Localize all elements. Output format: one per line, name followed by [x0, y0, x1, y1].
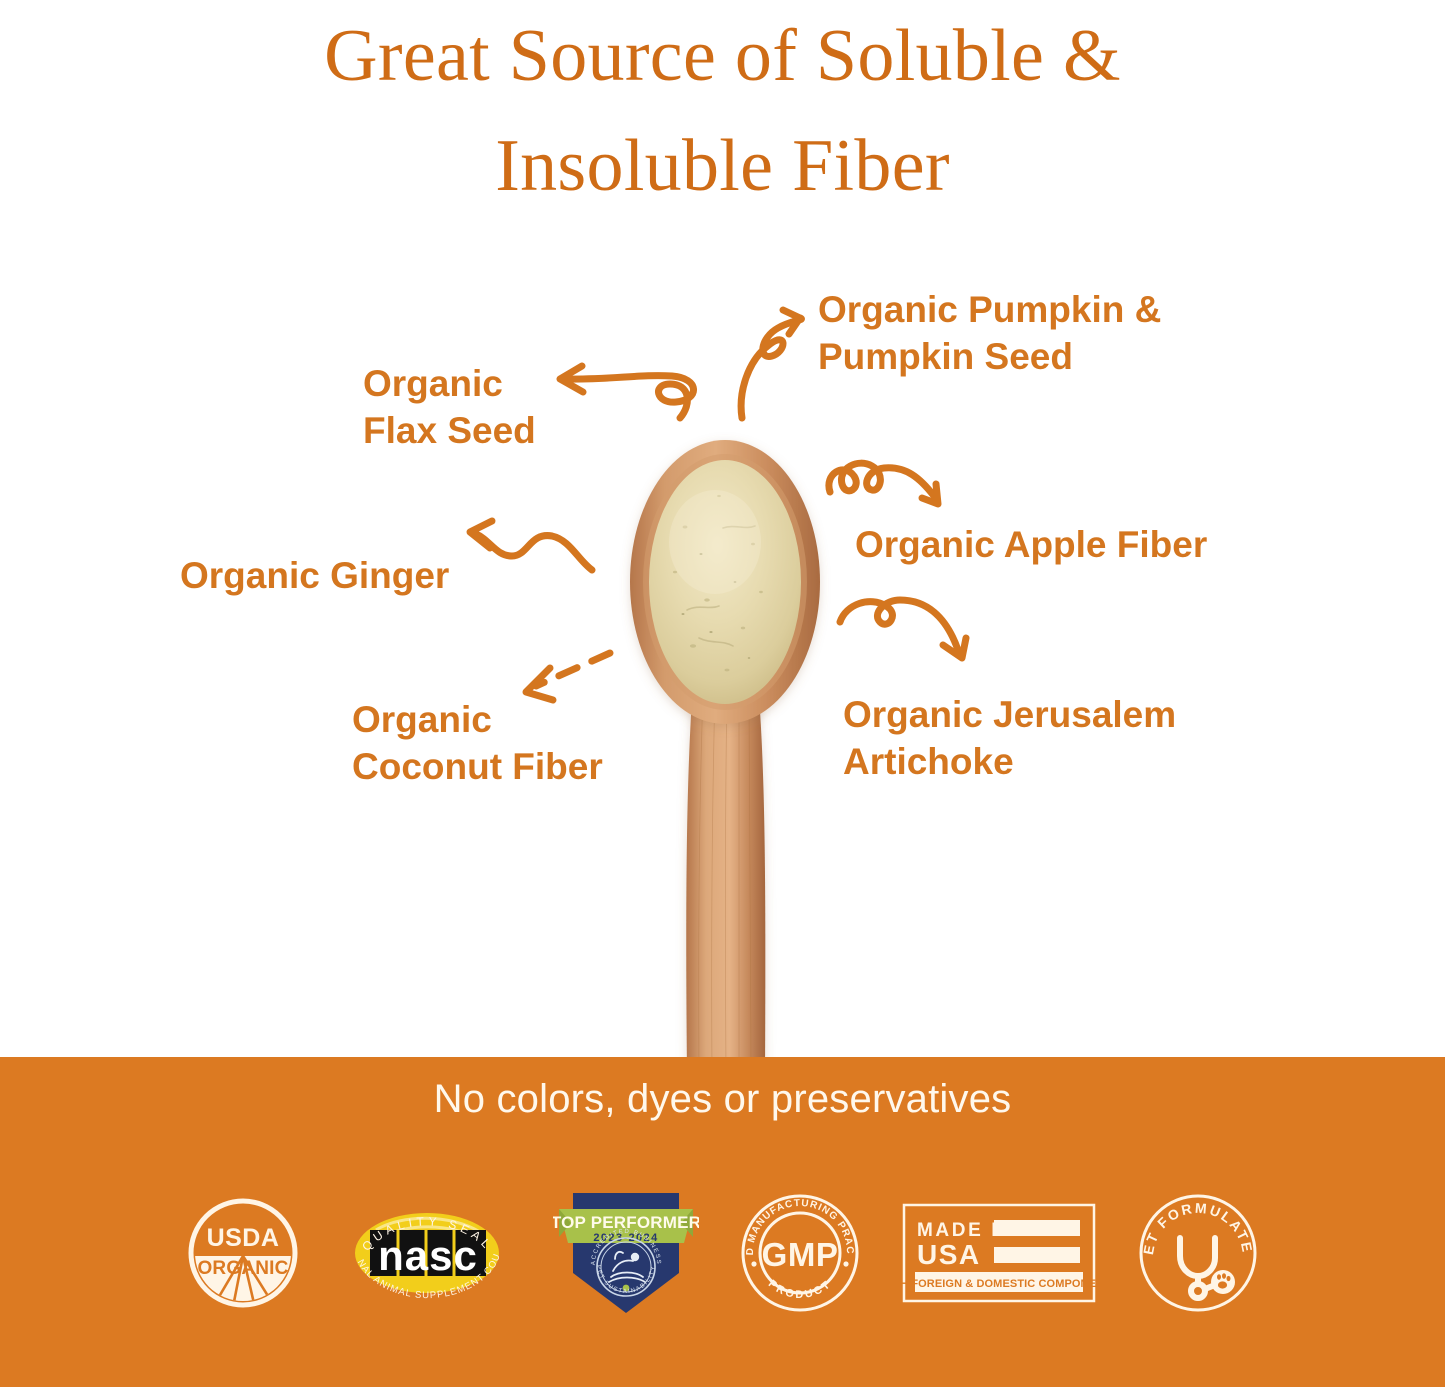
callout-label-ginger: Organic Ginger — [180, 552, 449, 599]
usda-line1: USDA — [207, 1224, 280, 1252]
gmp-seal: GMP GOOD MANUFACTURING PRACTICE PRODUCT — [737, 1190, 863, 1316]
arrow-flax — [560, 366, 694, 418]
gmp-wordmark: GMP — [762, 1236, 839, 1273]
certification-badge-row: USDA ORGANIC — [0, 1178, 1445, 1328]
nasc-wordmark: nasc — [378, 1232, 478, 1279]
callout-label-apple-fiber: Organic Apple Fiber — [855, 521, 1207, 568]
flag-stripes — [994, 1220, 1080, 1263]
usda-organic-seal: USDA ORGANIC — [184, 1194, 302, 1312]
stethoscope-icon — [1180, 1238, 1215, 1298]
callout-label-flax: Organic Flax Seed — [363, 360, 536, 455]
callout-label-coconut-fiber: Organic Coconut Fiber — [352, 696, 603, 791]
arrow-apple — [829, 463, 938, 504]
vet-formulated-seal: VET FORMULATED — [1135, 1190, 1261, 1316]
made-in-usa-line2: USA — [917, 1239, 981, 1270]
vet-formulated-arc-text: VET FORMULATED — [1135, 1190, 1256, 1256]
arrow-ginger — [470, 521, 592, 570]
usda-line2: ORGANIC — [197, 1258, 288, 1279]
callout-label-jerusalem-artichoke: Organic Jerusalem Artichoke — [843, 691, 1176, 786]
made-in-usa-badge: MADE IN USA WITH FOREIGN & DOMESTIC COMP… — [901, 1202, 1097, 1304]
nasc-quality-seal: nasc QUALITY SEAL NATIONAL ANIMAL SUPPLE… — [340, 1192, 515, 1314]
spoon-with-powder-image — [615, 432, 835, 1072]
made-in-usa-line3: WITH FOREIGN & DOMESTIC COMPONENTS — [901, 1278, 1097, 1290]
top-performer-shield: TOP PERFORMER 2023-2024 ACCREDITED BUSIN… — [553, 1187, 699, 1319]
arrow-artichoke — [840, 600, 966, 658]
gmp-bottom-text: PRODUCT — [766, 1278, 834, 1301]
arrow-pumpkin — [741, 310, 801, 418]
product-infographic: Great Source of Soluble & Insoluble Fibe… — [0, 0, 1445, 1387]
arrow-coconut — [526, 653, 610, 700]
page-title: Great Source of Soluble & Insoluble Fibe… — [0, 2, 1445, 221]
callout-label-pumpkin: Organic Pumpkin & Pumpkin Seed — [818, 286, 1161, 381]
footer-tagline: No colors, dyes or preservatives — [0, 1077, 1445, 1122]
